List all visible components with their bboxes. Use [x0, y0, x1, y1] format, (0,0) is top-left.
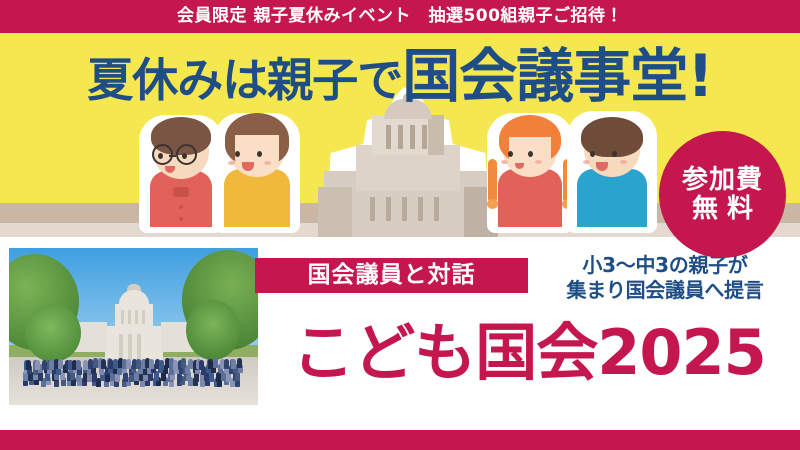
photo-person — [35, 360, 40, 370]
diet-base-column — [434, 197, 439, 221]
photo-diet-column — [135, 310, 138, 324]
child-illustration-boy-blue — [566, 107, 658, 227]
diet-base-column — [386, 197, 391, 221]
photo-person — [126, 359, 131, 369]
glasses-bridge-icon — [169, 155, 176, 157]
child-body — [498, 169, 562, 227]
child-eye — [590, 151, 595, 157]
diet-column — [386, 125, 391, 149]
photo-person — [224, 359, 229, 369]
photo-crowd — [23, 353, 245, 389]
photo-tree — [186, 300, 240, 360]
photo-person — [181, 358, 186, 368]
child-eye — [257, 151, 262, 157]
child-cheek — [264, 161, 271, 165]
child-body — [577, 169, 647, 227]
diet-base-column — [402, 197, 407, 221]
braid-left — [488, 159, 497, 203]
photo-person — [213, 358, 218, 368]
diet-building-illustration — [318, 95, 498, 237]
button-icon — [179, 217, 183, 221]
event-description-line-2: 集まり国会議員へ提言 — [534, 278, 796, 303]
child-cheek — [501, 160, 508, 164]
hero-headline: 夏休みは親子で国会議事堂! — [0, 47, 800, 105]
photo-person — [159, 360, 164, 370]
badge-line-1: 参加費 — [682, 166, 763, 195]
diet-tower-shadow — [428, 115, 444, 155]
headline-part-1: 夏休みは親子で — [87, 53, 402, 107]
photo-diet-column — [121, 310, 124, 324]
dialogue-pill-label: 国会議員と対話 — [308, 264, 476, 287]
photo-person — [209, 372, 214, 382]
button-icon — [179, 205, 183, 209]
diet-left-wing — [318, 187, 352, 237]
dialogue-pill-badge: 国会議員と対話 — [255, 258, 528, 293]
free-participation-badge: 参加費 無料 — [659, 131, 786, 258]
child-eye — [508, 151, 513, 157]
photo-person — [237, 358, 242, 368]
photo-person — [26, 360, 31, 370]
diet-column — [422, 125, 427, 149]
main-title: こども国会2025 — [258, 322, 800, 384]
child-eye — [528, 151, 533, 157]
photo-person — [58, 359, 63, 369]
diet-column — [410, 125, 415, 149]
diet-group-photo — [9, 248, 258, 405]
child-body — [224, 169, 290, 227]
child-eye — [182, 153, 187, 159]
bottom-crimson-bar — [0, 430, 800, 450]
photo-diet-column — [128, 310, 131, 324]
photo-diet-column — [142, 310, 145, 324]
top-announcement-strip: 会員限定 親子夏休みイベント 抽選500組親子ご招待！ — [0, 0, 800, 33]
photo-person — [199, 360, 204, 370]
photo-person — [76, 360, 81, 370]
child-cheek — [535, 160, 542, 164]
event-description: 小3〜中3の親子が 集まり国会議員へ提言 — [534, 253, 796, 303]
child-eye — [158, 153, 163, 159]
photo-person — [231, 359, 236, 369]
photo-person — [93, 358, 98, 368]
photo-person — [123, 372, 128, 382]
child-eye — [612, 151, 617, 157]
badge-line-2: 無料 — [683, 195, 762, 224]
child-cheek — [583, 160, 590, 164]
photo-diet-building — [97, 284, 171, 362]
bow-tie-icon — [173, 187, 189, 197]
child-cheek — [620, 160, 627, 164]
diet-base-column — [418, 197, 423, 221]
diet-base-column — [370, 197, 375, 221]
photo-person — [101, 359, 106, 369]
event-description-line-1: 小3〜中3の親子が — [534, 253, 796, 278]
child-illustration-girl-bob — [212, 109, 302, 227]
promo-banner: 会員限定 親子夏休みイベント 抽選500組親子ご招待！ — [0, 0, 800, 450]
child-cheek — [228, 161, 235, 165]
child-eye — [235, 151, 240, 157]
diet-column — [398, 125, 403, 149]
top-announcement-text: 会員限定 親子夏休みイベント 抽選500組親子ご招待！ — [177, 8, 623, 25]
photo-person — [149, 359, 154, 369]
braid-tip-left — [487, 199, 498, 209]
child-illustration-girl-braids — [486, 109, 574, 227]
photo-person — [83, 360, 88, 370]
headline-part-2: 国会議事堂! — [402, 42, 712, 110]
